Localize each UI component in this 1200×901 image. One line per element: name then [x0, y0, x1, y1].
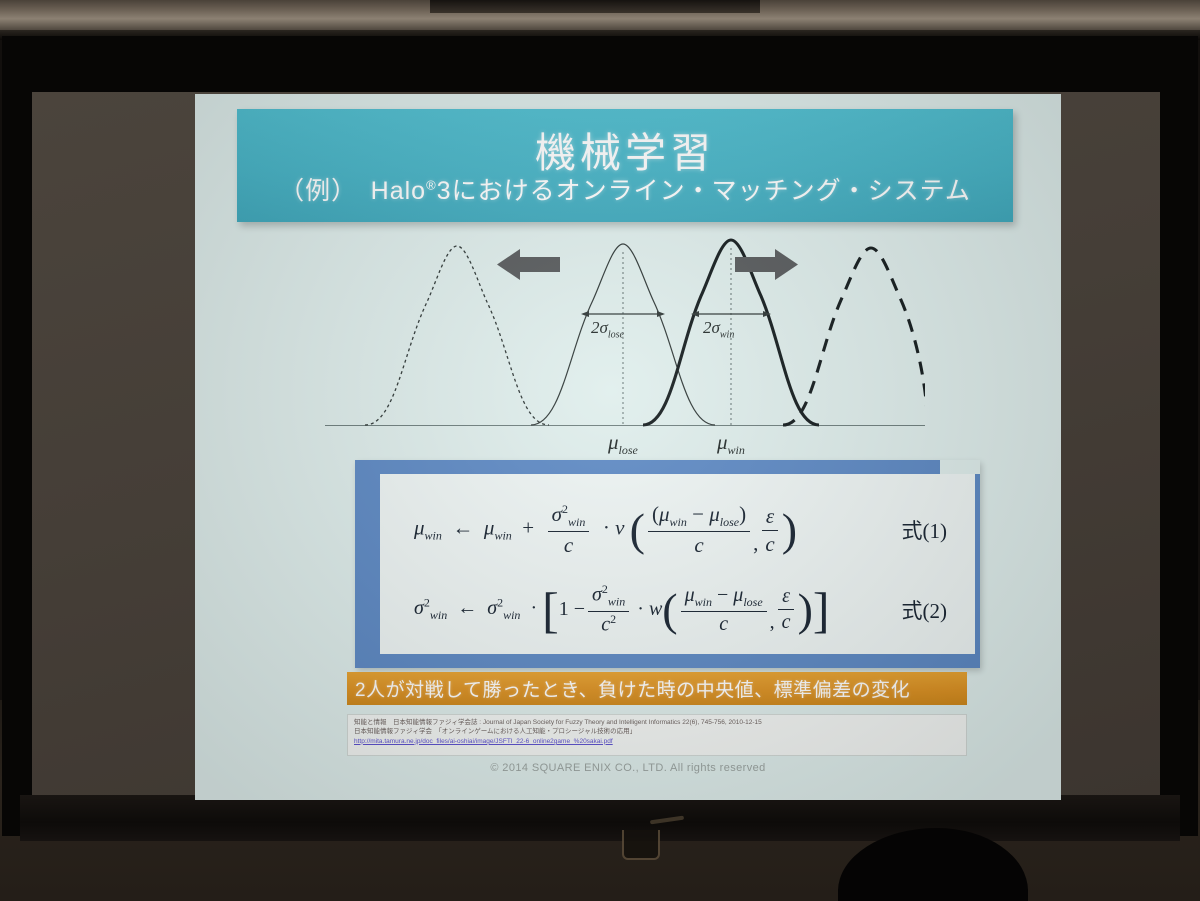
fraction-mu-diff-over-c-1: (μwin − μlose) c	[648, 502, 750, 557]
equation-1-number: 式(1)	[902, 515, 948, 545]
function-w: w	[649, 598, 662, 621]
citation-box: 知能と情報 日本知能情報ファジィ学会誌 : Journal of Japan S…	[347, 714, 967, 756]
formula-box: μwin ← μwin + σ2win c · v ( (μwin −	[355, 460, 980, 668]
mu-lose-tick-label: μlose	[608, 430, 638, 458]
bracket-group-2: [ 1 − σ2win c2 · w ( μwin − μlose	[542, 583, 829, 636]
registered-trademark-icon: ®	[426, 178, 437, 193]
mu-win-subscript: win	[728, 443, 745, 457]
room-photo-scene: 機械学習 （例） Halo®3におけるオンライン・マッチング・システム	[0, 0, 1200, 901]
projected-slide: 機械学習 （例） Halo®3におけるオンライン・マッチング・システム	[195, 94, 1061, 800]
page-title: 機械学習	[237, 119, 1013, 179]
sigma-win-span-arrow	[691, 311, 771, 317]
mu-lose-subscript: lose	[619, 443, 638, 457]
curve-win-after	[783, 248, 925, 425]
sigma-lose-subscript: lose	[608, 329, 624, 340]
copyright-text: © 2014 SQUARE ENIX CO., LTD. All rights …	[195, 762, 1061, 774]
sigma-lose-span-arrow	[581, 311, 665, 317]
fraction-epsilon-over-c-1: ε c	[761, 504, 778, 555]
curve-lose-after	[365, 246, 549, 425]
citation-line-2: 日本知能情報ファジィ学会 「オンラインゲームにおける人工知能・プロシージャル技術…	[354, 727, 960, 736]
gaussian-distribution-chart: 2σlose 2σwin μlose μwin	[325, 232, 925, 437]
citation-line-1: 知能と情報 日本知能情報ファジィ学会誌 : Journal of Japan S…	[354, 718, 960, 727]
equation-1-expression: μwin ← μwin + σ2win c · v ( (μwin −	[414, 502, 797, 557]
function-v: v	[615, 516, 624, 540]
paren-group-1: ( (μwin − μlose) c , ε c )	[630, 502, 797, 557]
sigma-win-label: 2σwin	[703, 318, 734, 340]
summary-banner-text: 2人が対戦して勝ったとき、負けた時の中央値、標準偏差の変化	[347, 675, 910, 702]
sigma-lose-label: 2σlose	[591, 318, 624, 340]
slide-subtitle: （例） Halo®3におけるオンライン・マッチング・システム	[237, 171, 1013, 207]
slide-title-band: 機械学習 （例） Halo®3におけるオンライン・マッチング・システム	[237, 109, 1013, 222]
chart-curves-svg	[325, 232, 925, 437]
assign-arrow-2: ←	[457, 598, 477, 620]
screen-pull-handle	[622, 830, 660, 860]
formula-box-inner-panel: μwin ← μwin + σ2win c · v ( (μwin −	[380, 474, 975, 654]
equation-row-1: μwin ← μwin + σ2win c · v ( (μwin −	[380, 498, 975, 562]
fraction-mu-diff-over-c-2: μwin − μlose c	[681, 584, 767, 636]
subtitle-suffix: 3におけるオンライン・マッチング・システム	[437, 177, 971, 205]
assign-arrow-1: ←	[452, 516, 473, 540]
mu-win-tick-label: μwin	[717, 430, 745, 458]
fraction-epsilon-over-c-2: ε c	[778, 585, 795, 634]
fraction-sigma-over-c2-2: σ2win c2	[588, 583, 629, 636]
formula-box-notch	[940, 460, 980, 474]
arrow-left-icon	[497, 249, 560, 280]
equation-row-2: σ2win ← σ2win · [ 1 − σ2win c2 · w	[380, 578, 975, 642]
subtitle-prefix: （例） Halo	[279, 177, 426, 205]
paren-group-2: ( μwin − μlose c , ε c )	[662, 584, 813, 636]
ceiling-gap	[430, 0, 760, 13]
screen-bottom-bar	[20, 795, 1180, 841]
citation-url-link[interactable]: http://mita.tamura.ne.jp/doc_files/ai-os…	[354, 737, 960, 746]
summary-banner: 2人が対戦して勝ったとき、負けた時の中央値、標準偏差の変化	[347, 672, 967, 705]
equation-2-number: 式(2)	[902, 595, 948, 625]
equation-2-expression: σ2win ← σ2win · [ 1 − σ2win c2 · w	[414, 583, 830, 636]
fraction-sigma-over-c-1: σ2win c	[548, 502, 590, 557]
sigma-win-subscript: win	[720, 329, 734, 340]
